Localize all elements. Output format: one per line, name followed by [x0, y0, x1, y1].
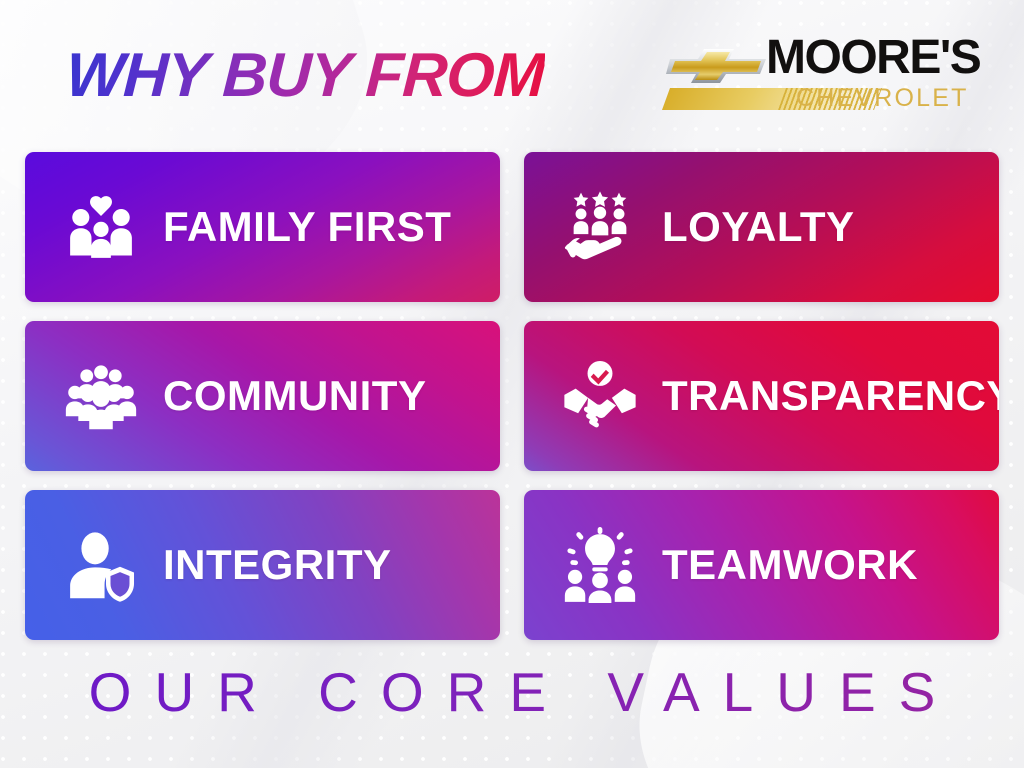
value-card-label: TEAMWORK	[662, 544, 918, 586]
value-card-integrity[interactable]: INTEGRITY	[25, 490, 500, 640]
page-title: WHY BUY FROM	[64, 45, 546, 107]
poster-canvas: WHY BUY FROM	[0, 0, 1024, 768]
hand-holding-stars-people-icon	[562, 189, 638, 265]
value-card-label: LOYALTY	[662, 206, 855, 248]
value-card-community[interactable]: COMMUNITY	[25, 321, 500, 471]
value-card-label: INTEGRITY	[163, 544, 392, 586]
value-card-family-first[interactable]: FAMILY FIRST	[25, 152, 500, 302]
lightbulb-team-icon	[562, 527, 638, 603]
family-heart-icon	[63, 189, 139, 265]
logo-brand-name: MOORE'S	[766, 34, 980, 82]
handshake-check-icon	[562, 358, 638, 434]
value-card-teamwork[interactable]: TEAMWORK	[524, 490, 999, 640]
people-group-icon	[63, 358, 139, 434]
core-values-grid: FAMILY FIRST LOYALTY	[25, 152, 999, 640]
value-card-label: TRANSPARENCY	[662, 375, 999, 417]
value-card-transparency[interactable]: TRANSPARENCY	[524, 321, 999, 471]
header: WHY BUY FROM	[0, 0, 1024, 140]
chevrolet-bowtie-icon	[664, 44, 772, 86]
footer-tagline: OUR CORE VALUES	[66, 660, 959, 724]
person-shield-icon	[63, 527, 139, 603]
footer: OUR CORE VALUES	[0, 660, 1024, 724]
dealer-logo: MOORE'S CHEVROLET	[656, 36, 972, 118]
value-card-label: COMMUNITY	[163, 375, 426, 417]
value-card-loyalty[interactable]: LOYALTY	[524, 152, 999, 302]
value-card-label: FAMILY FIRST	[163, 206, 451, 248]
logo-brand-sub: CHEVROLET	[796, 86, 969, 111]
